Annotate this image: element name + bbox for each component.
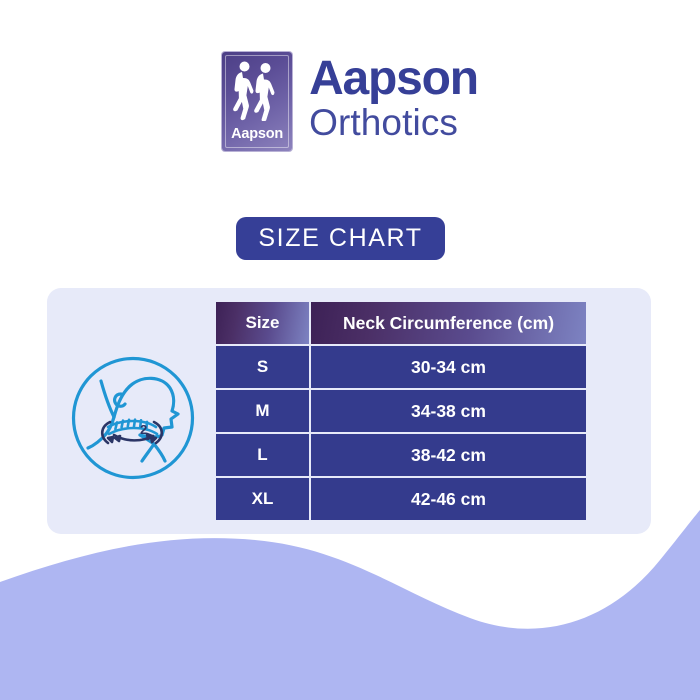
- decorative-wave: [0, 510, 700, 700]
- cell-neck-circumference: 30-34 cm: [311, 346, 586, 388]
- logo-badge: Aapson: [222, 52, 292, 151]
- cell-size: S: [216, 346, 309, 388]
- table-row: M 34-38 cm: [216, 390, 586, 432]
- logo-badge-text: Aapson: [222, 126, 292, 142]
- brand-name: Aapson: [309, 56, 478, 102]
- brand-subtitle: Orthotics: [309, 102, 478, 145]
- cell-size: M: [216, 390, 309, 432]
- cell-size: L: [216, 434, 309, 476]
- cell-neck-circumference: 42-46 cm: [311, 478, 586, 520]
- brand-logo-row: Aapson Aapson Orthotics: [0, 52, 700, 151]
- size-chart-banner-label: SIZE CHART: [258, 224, 422, 253]
- size-chart-page: Aapson Aapson Orthotics SIZE CHART: [0, 0, 700, 700]
- column-header-size: Size: [216, 302, 309, 344]
- neck-measurement-icon: 2: [70, 355, 196, 481]
- cell-size: XL: [216, 478, 309, 520]
- size-chart-banner: SIZE CHART: [236, 217, 445, 260]
- two-walking-figures-icon: [222, 59, 292, 121]
- column-header-neck-circumference: Neck Circumference (cm): [311, 302, 586, 344]
- cell-neck-circumference: 38-42 cm: [311, 434, 586, 476]
- table-row: XL 42-46 cm: [216, 478, 586, 520]
- table-header-row: Size Neck Circumference (cm): [216, 302, 586, 344]
- table-row: S 30-34 cm: [216, 346, 586, 388]
- cell-neck-circumference: 34-38 cm: [311, 390, 586, 432]
- size-table: Size Neck Circumference (cm) S 30-34 cm …: [216, 302, 586, 520]
- brand-wordmark: Aapson Orthotics: [309, 56, 478, 147]
- measure-step-label: 2: [140, 422, 147, 437]
- table-row: L 38-42 cm: [216, 434, 586, 476]
